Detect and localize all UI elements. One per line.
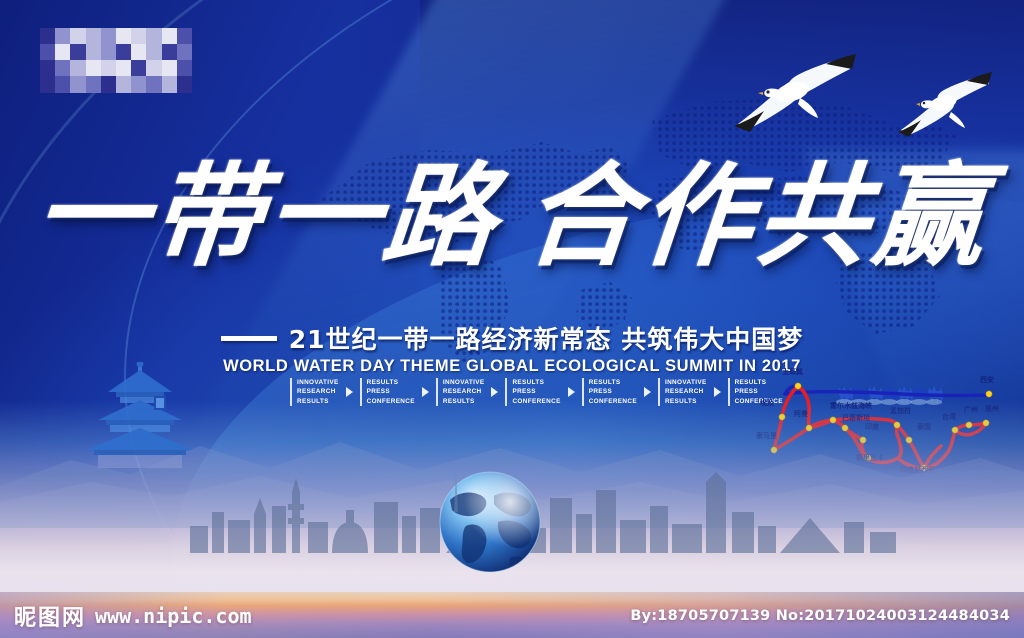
seagull-icon xyxy=(895,62,995,140)
censor-pixel xyxy=(55,28,71,45)
globe-icon xyxy=(432,466,548,582)
censor-pixel xyxy=(131,76,147,93)
censor-pixel xyxy=(162,44,178,61)
censor-pixel xyxy=(146,44,162,61)
censor-pixel xyxy=(116,44,132,61)
censor-pixel xyxy=(55,44,71,61)
censor-pixel xyxy=(116,76,132,93)
poster-canvas: 一带一路合作共赢 21世纪一带一路经济新常态 共筑伟大中国梦 WORLD WAT… xyxy=(0,0,1024,638)
censor-pixel xyxy=(131,60,147,77)
censor-pixel xyxy=(40,60,56,77)
censor-pixel xyxy=(101,28,117,45)
censor-pixel xyxy=(177,76,193,93)
censor-pixel xyxy=(55,60,71,77)
censor-pixel xyxy=(162,60,178,77)
censor-pixel xyxy=(131,44,147,61)
censor-pixel xyxy=(101,44,117,61)
credit-text: By:18705707139 No:20171024003124484034 xyxy=(630,608,1010,624)
censor-pixel xyxy=(116,28,132,45)
temple-of-heaven-icon xyxy=(76,362,204,470)
censor-pixel xyxy=(146,28,162,45)
censor-pixel xyxy=(40,44,56,61)
pixelated-watermark xyxy=(40,28,192,92)
subtitle-dash xyxy=(221,336,277,341)
censor-pixel xyxy=(70,76,86,93)
tag-arrow-icon xyxy=(644,387,651,397)
censor-pixel xyxy=(177,44,193,61)
censor-pixel xyxy=(70,60,86,77)
subtitle-chinese: 21世纪一带一路经济新常态 共筑伟大中国梦 xyxy=(289,320,804,356)
route-label: 土耳其 xyxy=(782,368,803,376)
censor-pixel xyxy=(86,44,102,61)
censor-pixel xyxy=(116,60,132,77)
censor-pixel xyxy=(40,28,56,45)
censor-pixel xyxy=(70,28,86,45)
route-node xyxy=(986,391,992,397)
censor-pixel xyxy=(86,76,102,93)
censor-pixel xyxy=(40,76,56,93)
tag-arrow-icon xyxy=(346,387,353,397)
censor-pixel xyxy=(146,76,162,93)
censor-pixel xyxy=(86,28,102,45)
nipic-logo: 昵图网 xyxy=(14,600,86,632)
tag-arrow-icon xyxy=(568,387,575,397)
subtitle-row: 21世纪一带一路经济新常态 共筑伟大中国梦 xyxy=(0,320,1024,356)
censor-pixel xyxy=(131,28,147,45)
censor-pixel xyxy=(162,76,178,93)
main-title-block: 一带一路合作共赢 xyxy=(0,158,1024,276)
main-title-part-2: 合作共赢 xyxy=(519,151,994,282)
censor-pixel xyxy=(146,60,162,77)
tag-arrow-icon xyxy=(422,387,429,397)
censor-pixel xyxy=(101,60,117,77)
censor-pixel xyxy=(55,76,71,93)
censor-pixel xyxy=(101,76,117,93)
censor-pixel xyxy=(177,28,193,45)
nipic-url: www.nipic.com xyxy=(95,604,252,628)
route-label: 西安 xyxy=(980,375,994,384)
tag-arrow-icon xyxy=(491,387,498,397)
main-title: 一带一路合作共赢 xyxy=(30,158,994,276)
route-node xyxy=(795,383,801,389)
seagull-icon xyxy=(730,42,860,137)
main-title-part-1: 一带一路 xyxy=(29,151,504,282)
censor-pixel xyxy=(70,44,86,61)
censor-pixel xyxy=(162,28,178,45)
censor-pixel xyxy=(86,60,102,77)
censor-pixel xyxy=(177,60,193,77)
tag-arrow-icon xyxy=(714,387,721,397)
